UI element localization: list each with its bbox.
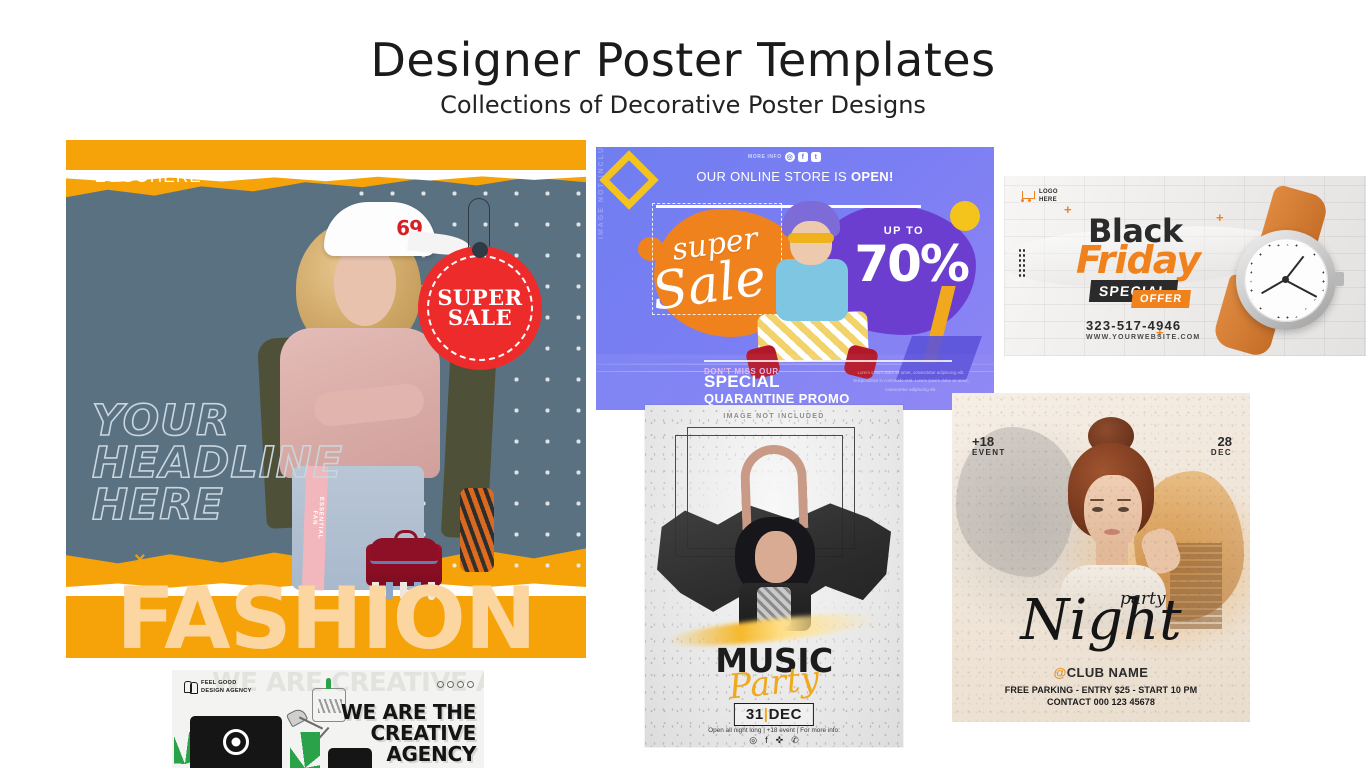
agency-logo-text: FEEL GOOD DESIGN AGENCY xyxy=(201,680,252,696)
twitter-icon[interactable]: t xyxy=(811,152,821,162)
night-party-word: party xyxy=(1120,589,1166,609)
agency-headline-line-2: CREATIVE xyxy=(341,723,476,744)
supersale-headline-bold: OPEN! xyxy=(851,169,894,184)
night-age-value: +18 xyxy=(972,434,994,449)
supersale-model-face xyxy=(790,221,832,265)
fashion-logo-thin: HERE xyxy=(150,167,202,186)
supersale-model-sunglasses xyxy=(788,233,834,243)
fashion-logo-bold: LOGO xyxy=(95,167,150,186)
night-details-line-1: FREE PARKING - ENTRY $25 - START 10 PM xyxy=(952,685,1250,695)
plus-icon: + xyxy=(1064,202,1072,217)
supersale-model-shirt xyxy=(776,259,848,321)
blackfriday-phone: 323-517-4946 xyxy=(1086,318,1181,333)
blackfriday-friday-word: Friday xyxy=(1076,238,1200,282)
lightbulb-icon xyxy=(184,681,196,694)
blackfriday-logo-line-2: HERE xyxy=(1039,197,1057,203)
agency-headline: WE ARE THE CREATIVE AGENCY xyxy=(341,702,476,764)
supersale-yellow-dot xyxy=(950,201,980,231)
music-date-badge: 31|DEC xyxy=(734,703,814,726)
blackfriday-website: WWW.YOURWEBSITE.COM xyxy=(1086,334,1200,341)
agency-logo: FEEL GOOD DESIGN AGENCY xyxy=(184,680,252,696)
supersale-lorem-text: Lorem ipsum dolor sit amet, consectetur … xyxy=(852,369,970,394)
night-date-month: DEC xyxy=(1211,449,1232,457)
fashion-footer-word: FASHION xyxy=(66,576,586,658)
supersale-bottom-rule xyxy=(704,360,952,362)
night-age-badge: +18 EVENT xyxy=(972,435,1006,457)
sale-tag-grommet xyxy=(472,242,488,258)
poster-super-sale[interactable]: IMAGE NOT INCLUDED MORE INFO ◎ f t OUR O… xyxy=(596,147,994,410)
social-icon-3[interactable] xyxy=(457,681,464,688)
wristwatch-product-image xyxy=(1210,190,1360,348)
lamp-head xyxy=(286,707,308,728)
fashion-headline-line-2: HEADLINE xyxy=(92,442,343,484)
laptop-illustration xyxy=(190,716,282,768)
music-info-line: Open all night long | +18 event | For mo… xyxy=(645,727,903,734)
fashion-model-face xyxy=(334,244,396,326)
supersale-percent: 70% xyxy=(854,235,968,293)
poster-gallery-canvas: Designer Poster Templates Collections of… xyxy=(0,0,1366,768)
social-icon-2[interactable] xyxy=(447,681,454,688)
facebook-icon[interactable]: f xyxy=(798,152,808,162)
more-info-label: MORE INFO xyxy=(748,154,782,160)
supersale-headline: OUR ONLINE STORE IS OPEN! xyxy=(596,169,994,184)
blackfriday-dot-accent xyxy=(1018,248,1026,278)
night-date-day: 28 xyxy=(1218,434,1232,449)
watch-center-pin xyxy=(1282,276,1289,283)
poster-music-party[interactable]: IMAGE NOT INCLUDED MUSIC Party 31|DEC Op… xyxy=(645,405,903,747)
poster-black-friday[interactable]: LOGO HERE + + + Black Friday SPECIAL OFF… xyxy=(1004,176,1366,356)
watch-crown xyxy=(1335,272,1344,286)
sale-tag-text: SUPER SALE xyxy=(437,288,522,328)
night-title: Night xyxy=(952,593,1250,649)
instagram-icon[interactable]: ◎ xyxy=(749,735,757,746)
social-icon-1[interactable] xyxy=(437,681,444,688)
agency-headline-line-3: AGENCY xyxy=(341,744,476,765)
poster-party-night[interactable]: +18 EVENT 28 DEC Night party @CLUB NAME … xyxy=(952,393,1250,722)
agency-logo-line-1: FEEL GOOD xyxy=(201,680,237,686)
agency-logo-line-2: DESIGN AGENCY xyxy=(201,688,252,694)
fashion-tiger-pattern xyxy=(460,488,494,572)
poster-fashion[interactable]: LOGOHERE 69 ESSENTIAL FAN xyxy=(66,140,586,658)
gear-icon xyxy=(223,729,249,755)
whatsapp-icon[interactable]: ✆ xyxy=(791,735,799,746)
music-date-day: 31 xyxy=(746,706,764,723)
agency-headline-line-1: WE ARE THE xyxy=(341,702,476,723)
supersale-special: SPECIAL xyxy=(704,372,780,392)
fashion-logo: LOGOHERE xyxy=(95,167,202,187)
poster-creative-agency[interactable]: WE ARE CREATIVE AG FEEL GOOD DESIGN AGEN… xyxy=(172,670,484,768)
fashion-headline: YOUR HEADLINE HERE xyxy=(92,400,343,526)
blackfriday-logo-line-1: LOGO xyxy=(1039,189,1058,195)
lamp-arm-upper xyxy=(299,716,323,729)
blackfriday-logo: LOGO HERE xyxy=(1020,188,1058,204)
music-model-face xyxy=(755,531,797,583)
instagram-icon[interactable]: ◎ xyxy=(785,152,795,162)
music-image-note: IMAGE NOT INCLUDED xyxy=(645,413,903,420)
agency-social-row[interactable] xyxy=(437,681,474,688)
sale-tag-line-2: SALE xyxy=(437,308,522,328)
blackfriday-logo-text: LOGO HERE xyxy=(1039,188,1058,204)
agency-plant-middle xyxy=(290,732,320,768)
fashion-headline-line-3: HERE xyxy=(92,484,343,526)
fashion-sale-tag[interactable]: SUPER SALE xyxy=(418,198,542,378)
supersale-headline-plain: OUR ONLINE STORE IS xyxy=(696,169,851,184)
supersale-more-info[interactable]: MORE INFO ◎ f t xyxy=(748,152,821,162)
night-club-at: @ xyxy=(1054,665,1067,680)
page-title: Designer Poster Templates xyxy=(0,36,1366,85)
night-details-line-2: CONTACT 000 123 45678 xyxy=(952,697,1250,707)
shopping-cart-icon xyxy=(1020,190,1034,202)
blackfriday-offer-badge: OFFER xyxy=(1131,290,1191,308)
night-club-name: @CLUB NAME xyxy=(952,665,1250,680)
music-date-month: DEC xyxy=(769,706,802,723)
handbag-flap xyxy=(370,538,438,564)
supersale-image-note: IMAGE NOT INCLUDED xyxy=(598,147,605,239)
fashion-headline-line-1: YOUR xyxy=(92,400,343,442)
night-date-badge: 28 DEC xyxy=(1211,435,1232,457)
supersale-promo: QUARANTINE PROMO xyxy=(704,391,850,406)
music-social-row[interactable]: ◎ f ✜ ✆ xyxy=(645,735,903,746)
page-subtitle: Collections of Decorative Poster Designs xyxy=(0,91,1366,119)
night-club-label: CLUB NAME xyxy=(1067,665,1149,680)
twitter-icon[interactable]: ✜ xyxy=(776,735,784,746)
social-icon-4[interactable] xyxy=(467,681,474,688)
page-header: Designer Poster Templates Collections of… xyxy=(0,36,1366,119)
facebook-icon[interactable]: f xyxy=(765,735,768,746)
music-model-illustration xyxy=(717,445,833,625)
night-age-label: EVENT xyxy=(972,449,1006,457)
agency-sprout-icon xyxy=(326,678,331,689)
